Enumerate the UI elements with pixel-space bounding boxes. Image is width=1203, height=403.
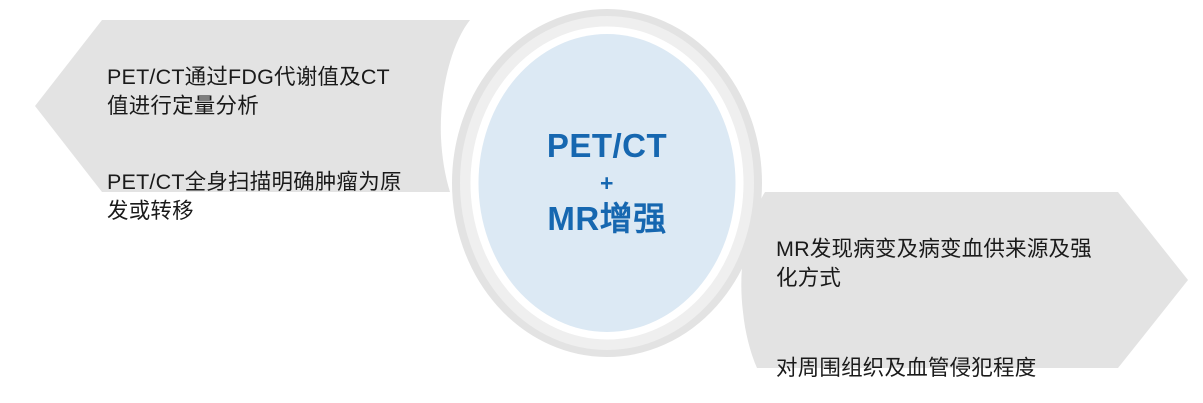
center-circle-line-3: MR增强 bbox=[547, 200, 666, 239]
center-circle-line-1: PET/CT bbox=[547, 127, 667, 166]
center-circle-label: PET/CT + MR增强 bbox=[478, 34, 736, 332]
left-arrow-text: PET/CT通过FDG代谢值及CT值进行定量分析 PET/CT全身扫描明确肿瘤为… bbox=[107, 33, 407, 257]
right-arrow-paragraph-1: MR发现病变及病变血供来源及强化方式 bbox=[776, 235, 1096, 294]
right-arrow-paragraph-2: 对周围组织及血管侵犯程度 bbox=[776, 354, 1096, 384]
right-arrow-text: MR发现病变及病变血供来源及强化方式 对周围组织及血管侵犯程度 bbox=[776, 205, 1096, 403]
diagram-canvas: PET/CT通过FDG代谢值及CT值进行定量分析 PET/CT全身扫描明确肿瘤为… bbox=[0, 0, 1203, 403]
left-arrow-paragraph-1: PET/CT通过FDG代谢值及CT值进行定量分析 bbox=[107, 63, 407, 122]
left-arrow-paragraph-2: PET/CT全身扫描明确肿瘤为原发或转移 bbox=[107, 168, 407, 227]
center-circle-line-2: + bbox=[600, 166, 614, 201]
